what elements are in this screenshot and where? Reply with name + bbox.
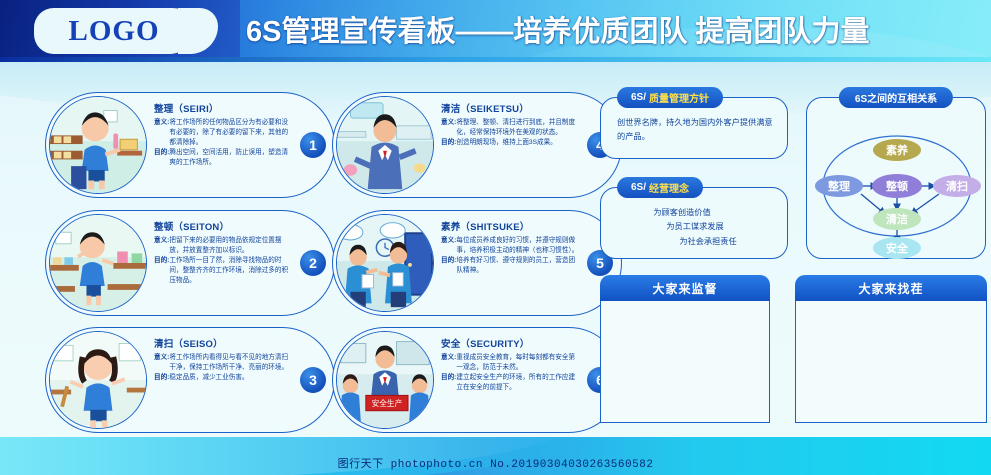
purpose-label: 目的: (441, 256, 456, 276)
illustration-seiri (50, 97, 146, 193)
card-purpose-row: 目的: 腾出空间，空间活用，防止误用，塑造清爽的工作场所。 (154, 148, 294, 168)
diagram-node-zhengdun-label: 整顿 (885, 179, 908, 193)
meaning-text: 把留下来的必要用的物品依规定位置摆放，并放置整齐加以标识。 (169, 236, 294, 256)
philosophy-line-2: 为员工谋求发展 (617, 220, 773, 234)
diagram-node-suyang-label: 素养 (886, 143, 909, 157)
card-number-badge: 3 (300, 367, 326, 393)
logo-plate: LOGO (34, 8, 194, 54)
illustration-seiso (50, 332, 146, 428)
svg-text:安全生产: 安全生产 (372, 398, 403, 408)
two-colleagues-greeting-icon (336, 214, 434, 312)
purpose-label: 目的: (441, 138, 456, 148)
illustration-shitsuke (337, 215, 433, 311)
supervision-box-area[interactable] (600, 301, 770, 423)
card-title: 安全（SECURITY） (441, 336, 581, 350)
card-purpose-row: 目的: 建立起安全生产的环境，所有的工作应建立在安全的前提下。 (441, 373, 581, 393)
card-security: 安全生产 安全（SECURITY） 意义: 重视成员安全教育，每时每刻都有安全第… (332, 327, 622, 433)
watermark-text: 图行天下 photophoto.cn No.201903040302635605… (0, 455, 991, 471)
illustration-seiton (50, 215, 146, 311)
poster-board: LOGO 6S管理宣传看板——培养优质团队 提高团队力量 (0, 0, 991, 475)
card-text-shitsuke: 素养（SHITSUKE） 意义: 每位成员养成良好的习惯，并遵守规则做事，培养积… (441, 219, 581, 276)
meaning-label: 意义: (441, 118, 456, 138)
relation-diagram-svg: 素养 整理 整顿 清扫 清洁 安全 (807, 98, 987, 260)
card-meaning-row: 意义: 每位成员养成良好的习惯，并遵守规则做事，培养积极主动的精神（也称习惯性）… (441, 236, 581, 256)
card-title: 整顿（SEITON） (154, 219, 294, 233)
card-text-seiso: 清扫（SEISO） 意义: 将工作场所内看得见与看不见的地方清扫干净，保持工作场… (154, 336, 294, 383)
meaning-text: 将工作场所的任何物品区分为有必要和没有必要的，除了有必要的留下来，其他的都清除掉… (169, 118, 294, 148)
philosophy-line-3: 为社会承担责任 (643, 235, 773, 249)
purpose-text: 稳定品质，减少工业伤害。 (169, 373, 294, 383)
card-seiton: 整顿（SEITON） 意义: 把留下来的必要用的物品依规定位置摆放，并放置整齐加… (45, 210, 335, 316)
purpose-label: 目的: (154, 373, 169, 383)
card-meaning-row: 意义: 将工作场所的任何物品区分为有必要和没有必要的，除了有必要的留下来，其他的… (154, 118, 294, 148)
supervision-box-title: 大家来监督 (600, 275, 770, 301)
diagram-node-qingsao-label: 清扫 (946, 179, 968, 193)
card-title: 清洁（SEIKETSU） (441, 101, 581, 115)
page-title: 6S管理宣传看板——培养优质团队 提高团队力量 (246, 11, 991, 53)
pill-prefix: 6S/ (631, 182, 646, 193)
safety-banner-workers-icon: 安全生产 (336, 331, 434, 429)
meaning-label: 意义: (441, 236, 456, 256)
purpose-text: 创造明朗现场，维持上面3S成果。 (456, 138, 581, 148)
boy-tidying-shelf-icon (49, 96, 147, 194)
purpose-label: 目的: (154, 256, 169, 286)
supervision-box: 大家来监督 (600, 275, 770, 423)
boy-arranging-items-icon (49, 214, 147, 312)
relation-diagram-panel: 6S之间的互相关系 素养 整理 整顿 清扫 (806, 97, 986, 259)
card-title: 素养（SHITSUKE） (441, 219, 581, 233)
card-purpose-row: 目的: 稳定品质，减少工业伤害。 (154, 373, 294, 383)
meaning-label: 意义: (154, 236, 169, 256)
card-seiketsu: 清洁（SEIKETSU） 意义: 将整理、整顿、清扫进行到底，并且制度化，经常保… (332, 92, 622, 198)
purpose-text: 培养有好习惯、遵守规则的员工，营造团队精神。 (456, 256, 581, 276)
purpose-label: 目的: (441, 373, 456, 393)
businessman-presenting-icon (336, 96, 434, 194)
card-purpose-row: 目的: 工作场所一目了然，消除寻找物品的时间，整整齐齐的工作环境，消除过多的积压… (154, 256, 294, 286)
illustration-seiketsu (337, 97, 433, 193)
philosophy-line-1: 为顾客创造价值 (591, 206, 773, 220)
card-meaning-row: 意义: 将整理、整顿、清扫进行到底，并且制度化，经常保持环境外在美观的状态。 (441, 118, 581, 138)
meaning-label: 意义: (154, 118, 169, 148)
meaning-label: 意义: (154, 353, 169, 373)
card-text-seiton: 整顿（SEITON） 意义: 把留下来的必要用的物品依规定位置摆放，并放置整齐加… (154, 219, 294, 285)
card-title: 整理（SEIRI） (154, 101, 294, 115)
card-text-seiri: 整理（SEIRI） 意义: 将工作场所的任何物品区分为有必要和没有必要的，除了有… (154, 101, 294, 167)
meaning-text: 每位成员养成良好的习惯，并遵守规则做事，培养积极主动的精神（也称习惯性）。 (456, 236, 581, 256)
header-banner: LOGO 6S管理宣传看板——培养优质团队 提高团队力量 (0, 0, 991, 62)
diagram-node-zhengli-label: 整理 (827, 179, 850, 193)
card-shitsuke: 素养（SHITSUKE） 意义: 每位成员养成良好的习惯，并遵守规则做事，培养积… (332, 210, 622, 316)
quality-policy-panel: 6S/ 质量管理方针 创世界名牌，持久地为国内外客户提供满意的产品。 (600, 97, 788, 159)
girl-cleaning-icon (49, 331, 147, 429)
card-text-security: 安全（SECURITY） 意义: 重视成员安全教育，每时每刻都有安全第一观念，防… (441, 336, 581, 393)
pill-title: 质量管理方针 (649, 90, 709, 105)
card-seiri: 整理（SEIRI） 意义: 将工作场所的任何物品区分为有必要和没有必要的，除了有… (45, 92, 335, 198)
purpose-text: 工作场所一目了然，消除寻找物品的时间，整整齐齐的工作环境，消除过多的积压物品。 (169, 256, 294, 286)
card-purpose-row: 目的: 创造明朗现场，维持上面3S成果。 (441, 138, 581, 148)
quality-policy-pill: 6S/ 质量管理方针 (617, 87, 723, 108)
fault-finding-box-title: 大家来找茬 (795, 275, 987, 301)
philosophy-pill: 6S/ 经营理念 (617, 177, 703, 198)
card-meaning-row: 意义: 将工作场所内看得见与看不见的地方清扫干净，保持工作场所干净、亮丽的环境。 (154, 353, 294, 373)
logo-text: LOGO (68, 15, 159, 48)
illustration-security: 安全生产 (337, 332, 433, 428)
pill-title: 经营理念 (649, 180, 689, 195)
diagram-node-qingjie-label: 清洁 (886, 212, 908, 226)
meaning-text: 将整理、整顿、清扫进行到底，并且制度化，经常保持环境外在美观的状态。 (456, 118, 581, 138)
philosophy-lines: 为顾客创造价值 为员工谋求发展 为社会承担责任 (601, 188, 787, 257)
meaning-text: 将工作场所内看得见与看不见的地方清扫干净，保持工作场所干净、亮丽的环境。 (169, 353, 294, 373)
card-seiso: 清扫（SEISO） 意义: 将工作场所内看得见与看不见的地方清扫干净，保持工作场… (45, 327, 335, 433)
management-philosophy-panel: 6S/ 经营理念 为顾客创造价值 为员工谋求发展 为社会承担责任 (600, 187, 788, 259)
purpose-text: 建立起安全生产的环境，所有的工作应建立在安全的前提下。 (456, 373, 581, 393)
purpose-label: 目的: (154, 148, 169, 168)
card-meaning-row: 意义: 把留下来的必要用的物品依规定位置摆放，并放置整齐加以标识。 (154, 236, 294, 256)
card-meaning-row: 意义: 重视成员安全教育，每时每刻都有安全第一观念，防范于未然。 (441, 353, 581, 373)
diagram-node-anquan-label: 安全 (886, 241, 909, 255)
card-purpose-row: 目的: 培养有好习惯、遵守规则的员工，营造团队精神。 (441, 256, 581, 276)
fault-finding-box-area[interactable] (795, 301, 987, 423)
card-number-badge: 2 (300, 250, 326, 276)
meaning-label: 意义: (441, 353, 456, 373)
meaning-text: 重视成员安全教育，每时每刻都有安全第一观念，防范于未然。 (456, 353, 581, 373)
card-number-badge: 1 (300, 132, 326, 158)
purpose-text: 腾出空间，空间活用，防止误用，塑造清爽的工作场所。 (169, 148, 294, 168)
card-text-seiketsu: 清洁（SEIKETSU） 意义: 将整理、整顿、清扫进行到底，并且制度化，经常保… (441, 101, 581, 148)
fault-finding-box: 大家来找茬 (795, 275, 987, 423)
pill-prefix: 6S/ (631, 92, 646, 103)
card-title: 清扫（SEISO） (154, 336, 294, 350)
